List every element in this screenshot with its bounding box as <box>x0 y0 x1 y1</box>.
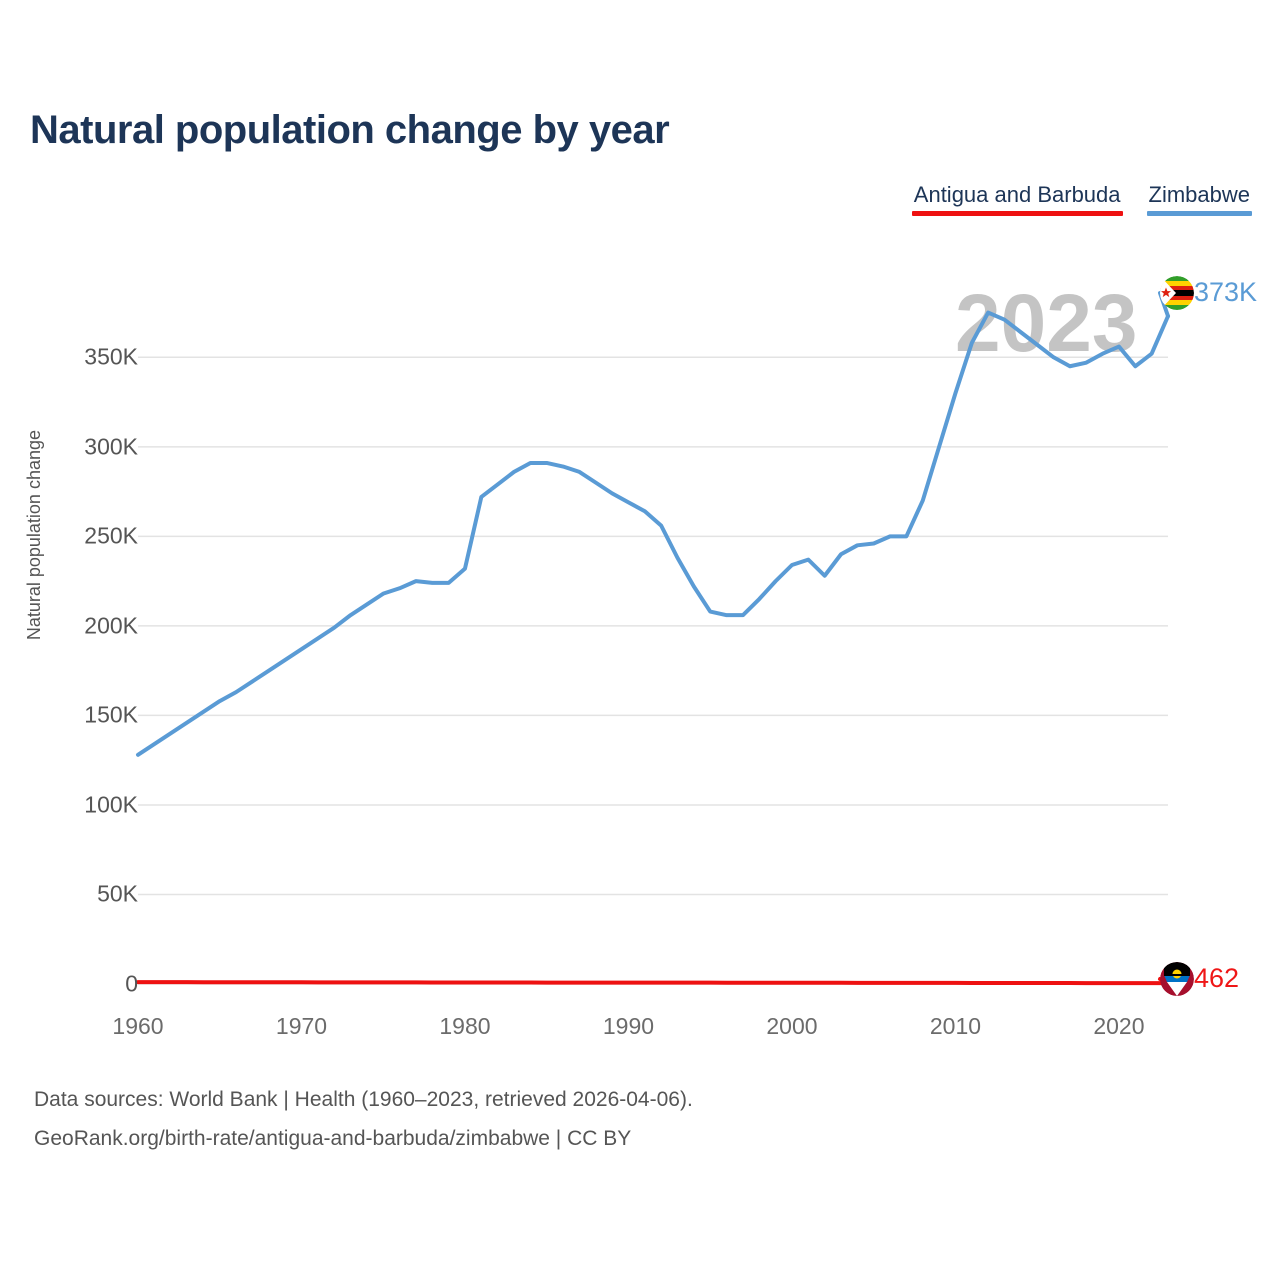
y-axis-tick-label: 50K <box>18 881 138 908</box>
x-axis-tick-label: 1960 <box>112 1013 163 1040</box>
y-axis-tick-label: 100K <box>18 791 138 818</box>
y-axis-tick-label: 350K <box>18 344 138 371</box>
y-axis-tick-label: 150K <box>18 702 138 729</box>
series-line-antigua-and-barbuda <box>138 982 1168 983</box>
x-axis-tick-label: 2010 <box>930 1013 981 1040</box>
x-axis-tick-label: 1990 <box>603 1013 654 1040</box>
chart-page: Natural population change by year Antigu… <box>0 0 1280 1280</box>
y-axis-tick-label: 300K <box>18 433 138 460</box>
footer-data-sources: Data sources: World Bank | Health (1960–… <box>34 1088 693 1112</box>
series-line-zimbabwe <box>138 313 1168 755</box>
zimbabwe-end-value: 373K <box>1194 277 1257 308</box>
x-axis-tick-label: 2000 <box>766 1013 817 1040</box>
antigua-end-value: 462 <box>1194 963 1239 994</box>
footer-attribution: GeoRank.org/birth-rate/antigua-and-barbu… <box>34 1127 631 1151</box>
x-axis-tick-label: 1970 <box>276 1013 327 1040</box>
gridlines <box>138 357 1168 984</box>
zimbabwe-flag-icon <box>1160 276 1194 310</box>
series-lines <box>138 293 1168 983</box>
y-axis-tick-label: 0 <box>18 971 138 998</box>
y-axis-tick-label: 250K <box>18 523 138 550</box>
x-axis-tick-label: 1980 <box>439 1013 490 1040</box>
x-axis-tick-label: 2020 <box>1093 1013 1144 1040</box>
antigua-and-barbuda-flag-icon <box>1160 962 1194 996</box>
y-axis-tick-label: 200K <box>18 612 138 639</box>
